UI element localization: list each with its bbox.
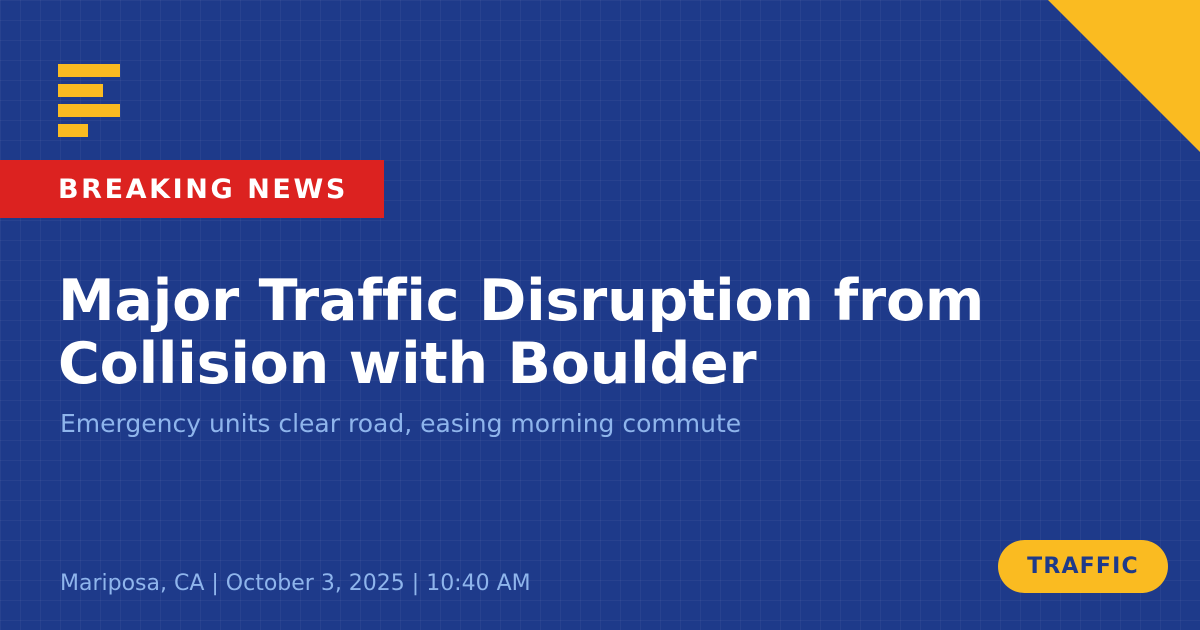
news-banner-card: BREAKING NEWS Major Traffic Disruption f…	[0, 0, 1200, 630]
category-badge: TRAFFIC	[998, 540, 1168, 593]
category-badge-label: TRAFFIC	[1027, 556, 1139, 578]
headline: Major Traffic Disruption from Collision …	[58, 270, 1153, 397]
location-date-time-meta: Mariposa, CA | October 3, 2025 | 10:40 A…	[60, 573, 531, 595]
top-right-yellow-triangle-decoration	[1048, 0, 1200, 152]
logo-bar-1	[58, 64, 120, 77]
breaking-news-badge: BREAKING NEWS	[0, 160, 384, 218]
logo-bar-4	[58, 124, 88, 137]
subheadline: Emergency units clear road, easing morni…	[60, 408, 1060, 441]
logo-bar-2	[58, 84, 103, 97]
logo-bar-3	[58, 104, 120, 117]
brand-logo	[58, 64, 138, 144]
breaking-news-badge-label: BREAKING NEWS	[58, 176, 348, 203]
